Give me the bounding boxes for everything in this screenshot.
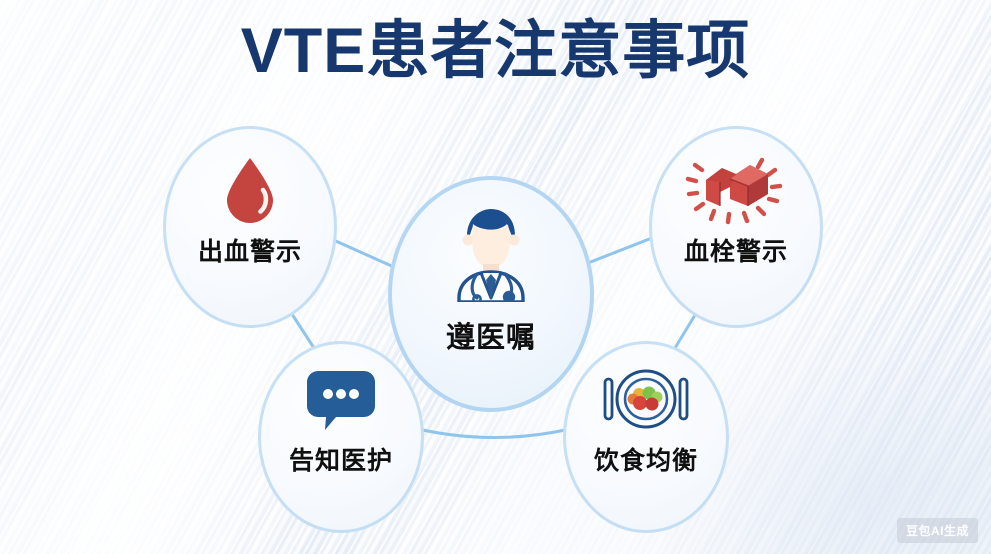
node-label: 遵医嘱 (446, 314, 536, 356)
node-bleeding-warning[interactable]: 出血警示 (163, 126, 337, 328)
node-label: 告知医护 (289, 441, 393, 477)
blood-clot-icon (684, 154, 788, 226)
node-label: 饮食均衡 (594, 441, 698, 477)
speech-bubble-icon (306, 367, 376, 433)
node-thrombosis-warning[interactable]: 血栓警示 (649, 126, 823, 328)
infographic-canvas: VTE患者注意事项 出血警示 (0, 0, 991, 554)
node-balanced-diet[interactable]: 饮食均衡 (563, 341, 729, 533)
node-label: 血栓警示 (684, 232, 788, 268)
blood-drop-icon (220, 154, 280, 226)
watermark: 豆包AI生成 (897, 518, 978, 543)
node-label: 出血警示 (198, 232, 302, 268)
plate-meal-icon (597, 367, 695, 433)
node-inform-medical-staff[interactable]: 告知医护 (258, 341, 424, 533)
node-follow-doctor-orders[interactable]: 遵医嘱 (388, 176, 594, 412)
doctor-icon (437, 206, 545, 302)
page-title: VTE患者注意事项 (0, 20, 991, 83)
